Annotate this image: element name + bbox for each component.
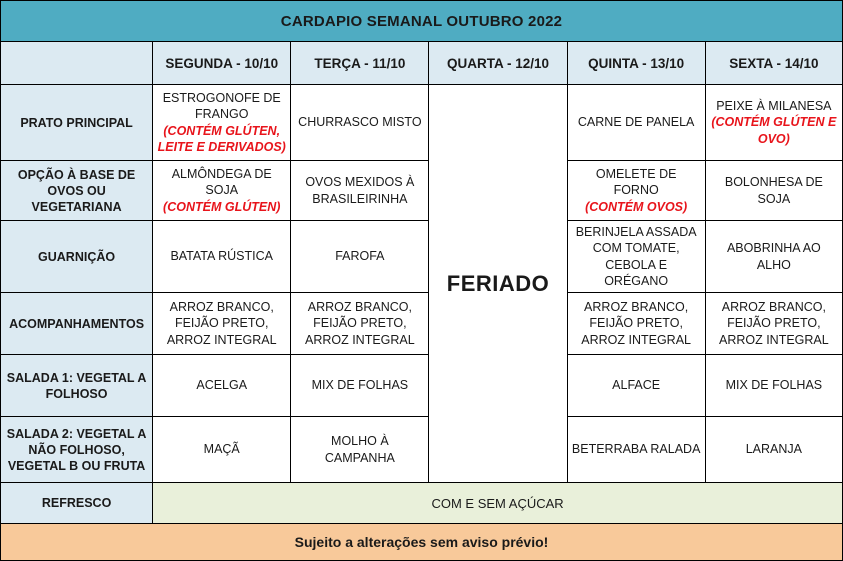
dish-name: BOLONHESA DE SOJA xyxy=(710,174,838,207)
weekly-menu-table: CARDAPIO SEMANAL OUTUBRO 2022 SEGUNDA - … xyxy=(0,0,843,561)
dish-name: MAÇÃ xyxy=(157,441,286,457)
cell-guarnicao-terca: FAROFA xyxy=(291,221,429,293)
row-label-opcao-vegetariana: OPÇÃO À BASE DE OVOS OU VEGETARIANA xyxy=(1,161,153,221)
day-header-sexta: SEXTA - 14/10 xyxy=(705,42,842,85)
dish-name: ARROZ BRANCO, FEIJÃO PRETO, ARROZ INTEGR… xyxy=(710,299,838,348)
dish-name: CHURRASCO MISTO xyxy=(295,114,424,130)
table-row: GUARNIÇÃO BATATA RÚSTICA FAROFA BERINJEL… xyxy=(1,221,843,293)
cell-prato-sexta: PEIXE À MILANESA (CONTÉM GLÚTEN E OVO) xyxy=(705,85,842,161)
dish-name: CARNE DE PANELA xyxy=(572,114,701,130)
dish-name: MOLHO À CAMPANHA xyxy=(295,433,424,466)
cell-salada2-segunda: MAÇÃ xyxy=(153,417,291,483)
table-row: SALADA 2: VEGETAL A NÃO FOLHOSO, VEGETAL… xyxy=(1,417,843,483)
cell-salada2-quinta: BETERRABA RALADA xyxy=(567,417,705,483)
cell-salada1-segunda: ACELGA xyxy=(153,355,291,417)
table-row: SALADA 1: VEGETAL A FOLHOSO ACELGA MIX D… xyxy=(1,355,843,417)
allergen-note: (CONTÉM GLÚTEN, LEITE E DERIVADOS) xyxy=(157,123,286,156)
day-header-terca: TERÇA - 11/10 xyxy=(291,42,429,85)
cell-salada1-terca: MIX DE FOLHAS xyxy=(291,355,429,417)
cell-opcao-quinta: OMELETE DE FORNO (CONTÉM OVOS) xyxy=(567,161,705,221)
allergen-note: (CONTÉM OVOS) xyxy=(572,199,701,215)
table-row: PRATO PRINCIPAL ESTROGONOFE DE FRANGO (C… xyxy=(1,85,843,161)
row-label-guarnicao: GUARNIÇÃO xyxy=(1,221,153,293)
day-header-row: SEGUNDA - 10/10 TERÇA - 11/10 QUARTA - 1… xyxy=(1,42,843,85)
allergen-note: (CONTÉM GLÚTEN E OVO) xyxy=(710,114,838,147)
dish-name: OMELETE DE FORNO xyxy=(572,166,701,199)
dish-name: OVOS MEXIDOS À BRASILEIRINHA xyxy=(295,174,424,207)
cell-prato-terca: CHURRASCO MISTO xyxy=(291,85,429,161)
day-header-segunda: SEGUNDA - 10/10 xyxy=(153,42,291,85)
cell-prato-quinta: CARNE DE PANELA xyxy=(567,85,705,161)
cell-salada2-sexta: LARANJA xyxy=(705,417,842,483)
row-label-salada-1: SALADA 1: VEGETAL A FOLHOSO xyxy=(1,355,153,417)
row-label-acompanhamentos: ACOMPANHAMENTOS xyxy=(1,293,153,355)
dish-name: FAROFA xyxy=(295,248,424,264)
dish-name: ESTROGONOFE DE FRANGO xyxy=(157,90,286,123)
dish-name: MIX DE FOLHAS xyxy=(710,377,838,393)
dish-name: ALMÔNDEGA DE SOJA xyxy=(157,166,286,199)
cell-guarnicao-sexta: ABOBRINHA AO ALHO xyxy=(705,221,842,293)
dish-name: ABOBRINHA AO ALHO xyxy=(710,240,838,273)
row-label-refresco: REFRESCO xyxy=(1,483,153,524)
day-header-quinta: QUINTA - 13/10 xyxy=(567,42,705,85)
menu-sheet: CARDAPIO SEMANAL OUTUBRO 2022 SEGUNDA - … xyxy=(0,0,843,560)
row-label-salada-2: SALADA 2: VEGETAL A NÃO FOLHOSO, VEGETAL… xyxy=(1,417,153,483)
dish-name: BATATA RÚSTICA xyxy=(157,248,286,264)
dish-name: ARROZ BRANCO, FEIJÃO PRETO, ARROZ INTEGR… xyxy=(295,299,424,348)
cell-salada2-terca: MOLHO À CAMPANHA xyxy=(291,417,429,483)
cell-salada1-sexta: MIX DE FOLHAS xyxy=(705,355,842,417)
cell-opcao-segunda: ALMÔNDEGA DE SOJA (CONTÉM GLÚTEN) xyxy=(153,161,291,221)
dish-name: LARANJA xyxy=(710,441,838,457)
dish-name: BERINJELA ASSADA COM TOMATE, CEBOLA E OR… xyxy=(572,224,701,289)
header-corner-cell xyxy=(1,42,153,85)
dish-name: ALFACE xyxy=(572,377,701,393)
page-title: CARDAPIO SEMANAL OUTUBRO 2022 xyxy=(1,1,843,42)
dish-name: ACELGA xyxy=(157,377,286,393)
allergen-note: (CONTÉM GLÚTEN) xyxy=(157,199,286,215)
cell-guarnicao-segunda: BATATA RÚSTICA xyxy=(153,221,291,293)
table-row: ACOMPANHAMENTOS ARROZ BRANCO, FEIJÃO PRE… xyxy=(1,293,843,355)
title-row: CARDAPIO SEMANAL OUTUBRO 2022 xyxy=(1,1,843,42)
dish-name: PEIXE À MILANESA xyxy=(710,98,838,114)
footer-row: Sujeito a alterações sem aviso prévio! xyxy=(1,524,843,561)
cell-acompanhamentos-segunda: ARROZ BRANCO, FEIJÃO PRETO, ARROZ INTEGR… xyxy=(153,293,291,355)
dish-name: BETERRABA RALADA xyxy=(572,441,701,457)
cell-salada1-quinta: ALFACE xyxy=(567,355,705,417)
cell-acompanhamentos-quinta: ARROZ BRANCO, FEIJÃO PRETO, ARROZ INTEGR… xyxy=(567,293,705,355)
cell-opcao-terca: OVOS MEXIDOS À BRASILEIRINHA xyxy=(291,161,429,221)
cell-prato-segunda: ESTROGONOFE DE FRANGO (CONTÉM GLÚTEN, LE… xyxy=(153,85,291,161)
cell-acompanhamentos-terca: ARROZ BRANCO, FEIJÃO PRETO, ARROZ INTEGR… xyxy=(291,293,429,355)
table-row: REFRESCO COM E SEM AÇÚCAR xyxy=(1,483,843,524)
day-header-quarta: QUARTA - 12/10 xyxy=(429,42,567,85)
footer-note: Sujeito a alterações sem aviso prévio! xyxy=(1,524,843,561)
table-row: OPÇÃO À BASE DE OVOS OU VEGETARIANA ALMÔ… xyxy=(1,161,843,221)
dish-name: MIX DE FOLHAS xyxy=(295,377,424,393)
dish-name: ARROZ BRANCO, FEIJÃO PRETO, ARROZ INTEGR… xyxy=(572,299,701,348)
cell-guarnicao-quinta: BERINJELA ASSADA COM TOMATE, CEBOLA E OR… xyxy=(567,221,705,293)
cell-refresco-value: COM E SEM AÇÚCAR xyxy=(153,483,843,524)
cell-opcao-sexta: BOLONHESA DE SOJA xyxy=(705,161,842,221)
row-label-prato-principal: PRATO PRINCIPAL xyxy=(1,85,153,161)
holiday-cell: FERIADO xyxy=(429,85,567,483)
dish-name: ARROZ BRANCO, FEIJÃO PRETO, ARROZ INTEGR… xyxy=(157,299,286,348)
cell-acompanhamentos-sexta: ARROZ BRANCO, FEIJÃO PRETO, ARROZ INTEGR… xyxy=(705,293,842,355)
